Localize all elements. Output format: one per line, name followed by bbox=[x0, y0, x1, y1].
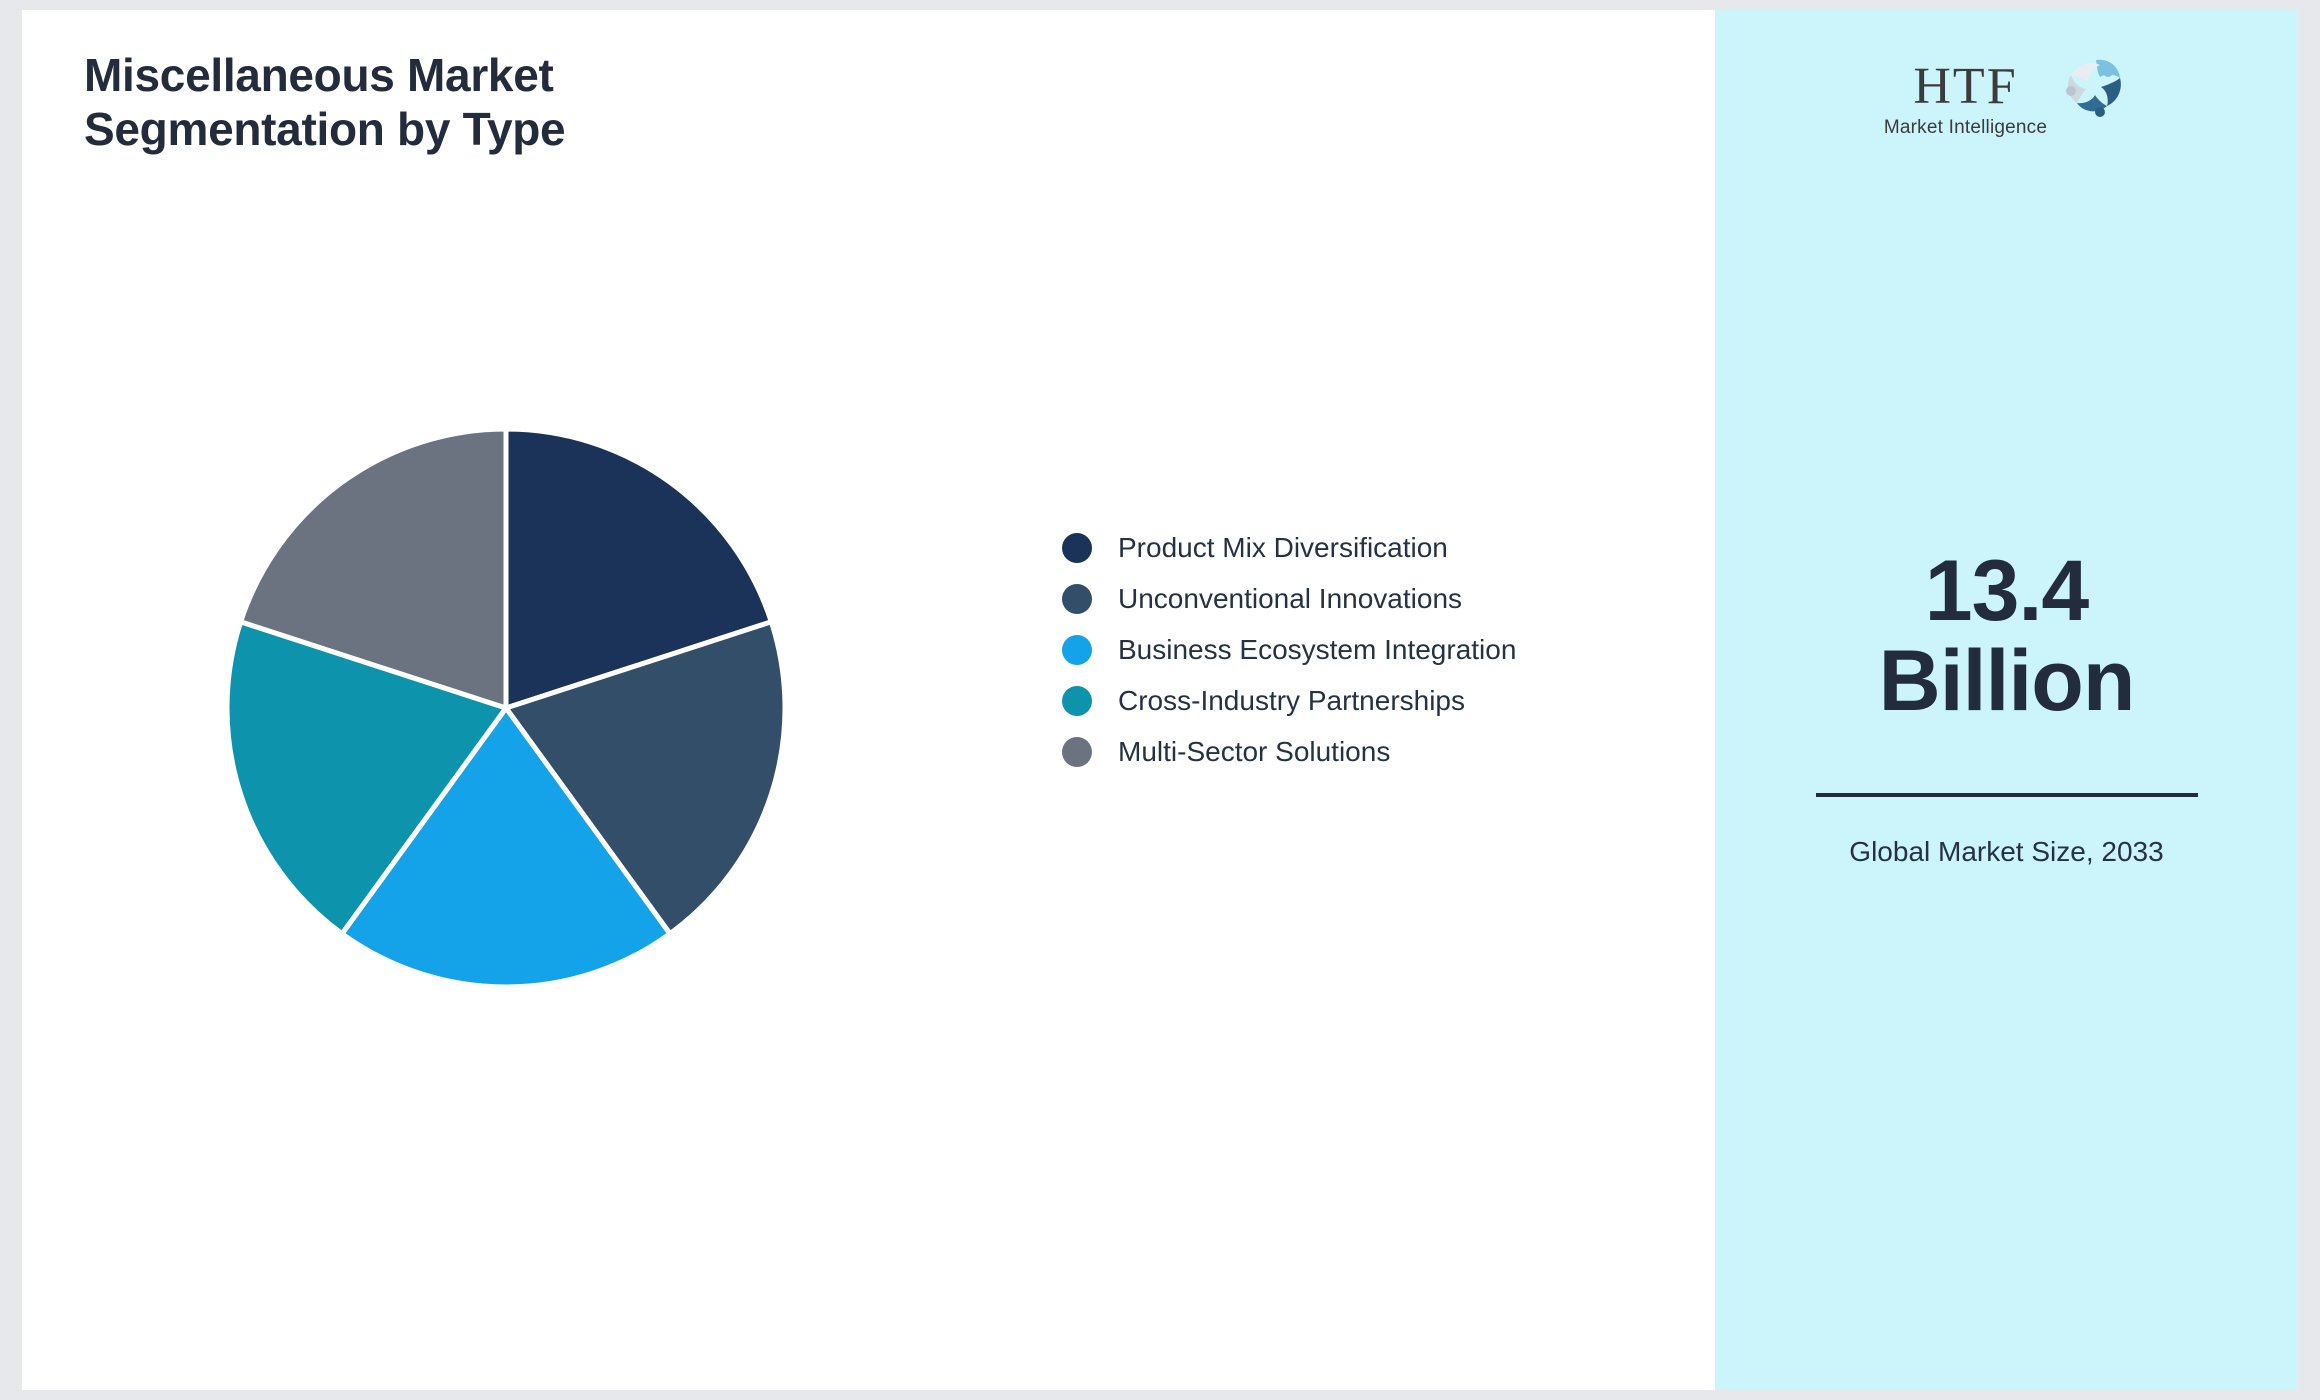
stat-block: 13.4 Billion Global Market Size, 2033 bbox=[1715, 546, 2298, 869]
legend-swatch-icon bbox=[1062, 533, 1092, 563]
legend-item-multi-sector-solutions[interactable]: Multi-Sector Solutions bbox=[1062, 726, 1516, 777]
chart-legend: Product Mix Diversification Unconvention… bbox=[1062, 522, 1516, 777]
legend-item-label: Multi-Sector Solutions bbox=[1118, 738, 1390, 766]
legend-swatch-icon bbox=[1062, 686, 1092, 716]
legend-item-unconventional-innovations[interactable]: Unconventional Innovations bbox=[1062, 573, 1516, 624]
stat-value: 13.4 Billion bbox=[1879, 546, 2135, 727]
legend-swatch-icon bbox=[1062, 584, 1092, 614]
pie-chart-svg bbox=[204, 406, 808, 1010]
brand-tagline: Market Intelligence bbox=[1884, 117, 2047, 139]
legend-item-label: Business Ecosystem Integration bbox=[1118, 636, 1516, 664]
legend-swatch-icon bbox=[1062, 737, 1092, 767]
legend-swatch-icon bbox=[1062, 635, 1092, 665]
legend-item-business-ecosystem-integration[interactable]: Business Ecosystem Integration bbox=[1062, 624, 1516, 675]
legend-item-cross-industry-partnerships[interactable]: Cross-Industry Partnerships bbox=[1062, 675, 1516, 726]
legend-item-label: Unconventional Innovations bbox=[1118, 585, 1462, 613]
brand-logo-text: HTF Market Intelligence bbox=[1884, 62, 2047, 139]
legend-item-product-mix-diversification[interactable]: Product Mix Diversification bbox=[1062, 522, 1516, 573]
brand-logo: HTF Market Intelligence bbox=[1715, 62, 2298, 139]
legend-item-label: Product Mix Diversification bbox=[1118, 534, 1448, 562]
htf-emblem-icon bbox=[2051, 55, 2129, 130]
brand-name: HTF bbox=[1913, 62, 2017, 111]
chart-panel: Miscellaneous Market Segmentation by Typ… bbox=[22, 10, 1715, 1390]
stat-divider bbox=[1816, 793, 2198, 797]
page-title: Miscellaneous Market Segmentation by Typ… bbox=[84, 48, 904, 157]
legend-item-label: Cross-Industry Partnerships bbox=[1118, 687, 1465, 715]
stat-panel: HTF Market Intelligence 13.4 Billion bbox=[1715, 10, 2298, 1390]
pie-chart bbox=[204, 406, 808, 1010]
stat-caption: Global Market Size, 2033 bbox=[1842, 835, 2172, 869]
infographic-card: Miscellaneous Market Segmentation by Typ… bbox=[22, 10, 2298, 1390]
